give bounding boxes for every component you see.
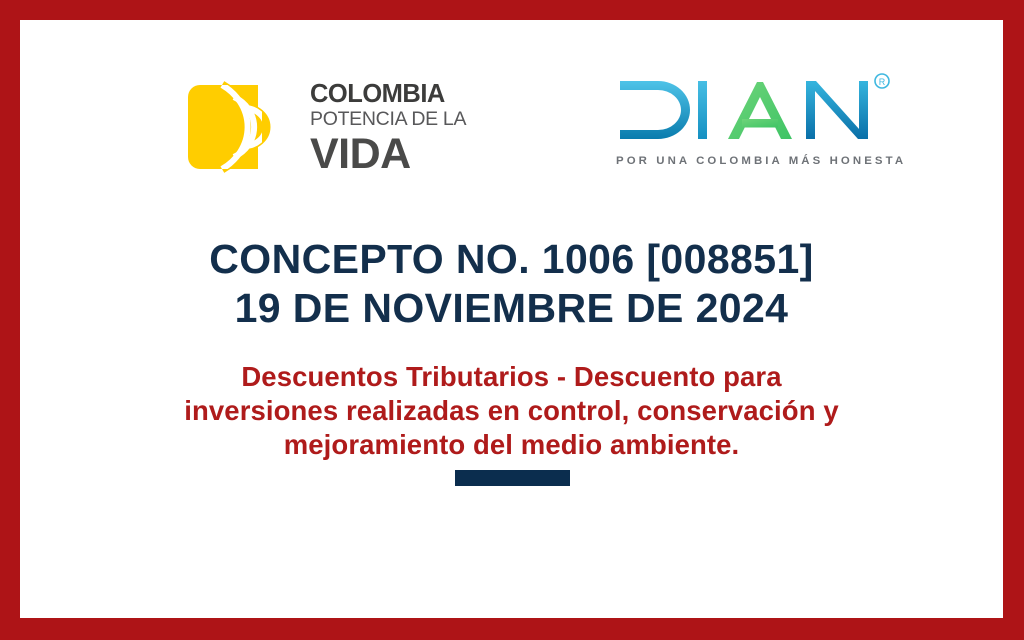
divider-rule <box>455 470 570 486</box>
colombia-logo: COLOMBIA POTENCIA DE LA VIDA <box>188 55 448 165</box>
page-subtitle-line3: mejoramiento del medio ambiente. <box>50 428 973 462</box>
colombia-wordmark-line1: COLOMBIA <box>310 81 460 107</box>
page-title-line1: CONCEPTO NO. 1006 [008851] <box>20 235 1003 284</box>
colombia-wordmark-line2: POTENCIA DE LA <box>310 107 460 131</box>
colombia-signal-mark-icon <box>188 77 298 177</box>
page-subtitle-line2: inversiones realizadas en control, conse… <box>50 394 973 428</box>
poster-frame: COLOMBIA POTENCIA DE LA VIDA <box>0 0 1024 640</box>
colombia-wordmark: COLOMBIA POTENCIA DE LA VIDA <box>310 81 460 177</box>
logo-strip: COLOMBIA POTENCIA DE LA VIDA <box>20 55 1003 195</box>
poster-card: COLOMBIA POTENCIA DE LA VIDA <box>20 20 1003 618</box>
page-subtitle: Descuentos Tributarios - Descuento para … <box>20 360 1003 462</box>
colombia-wordmark-line3: VIDA <box>310 131 460 177</box>
dian-wordmark-icon: R <box>616 69 916 151</box>
svg-text:R: R <box>879 77 886 87</box>
dian-logo: R POR UNA COLOMBIA MÁS HONESTA <box>598 69 908 189</box>
page-subtitle-line1: Descuentos Tributarios - Descuento para <box>50 360 973 394</box>
page-title-line2: 19 DE NOVIEMBRE DE 2024 <box>20 284 1003 333</box>
page-title: CONCEPTO NO. 1006 [008851] 19 DE NOVIEMB… <box>20 235 1003 333</box>
dian-tagline: POR UNA COLOMBIA MÁS HONESTA <box>616 155 906 167</box>
